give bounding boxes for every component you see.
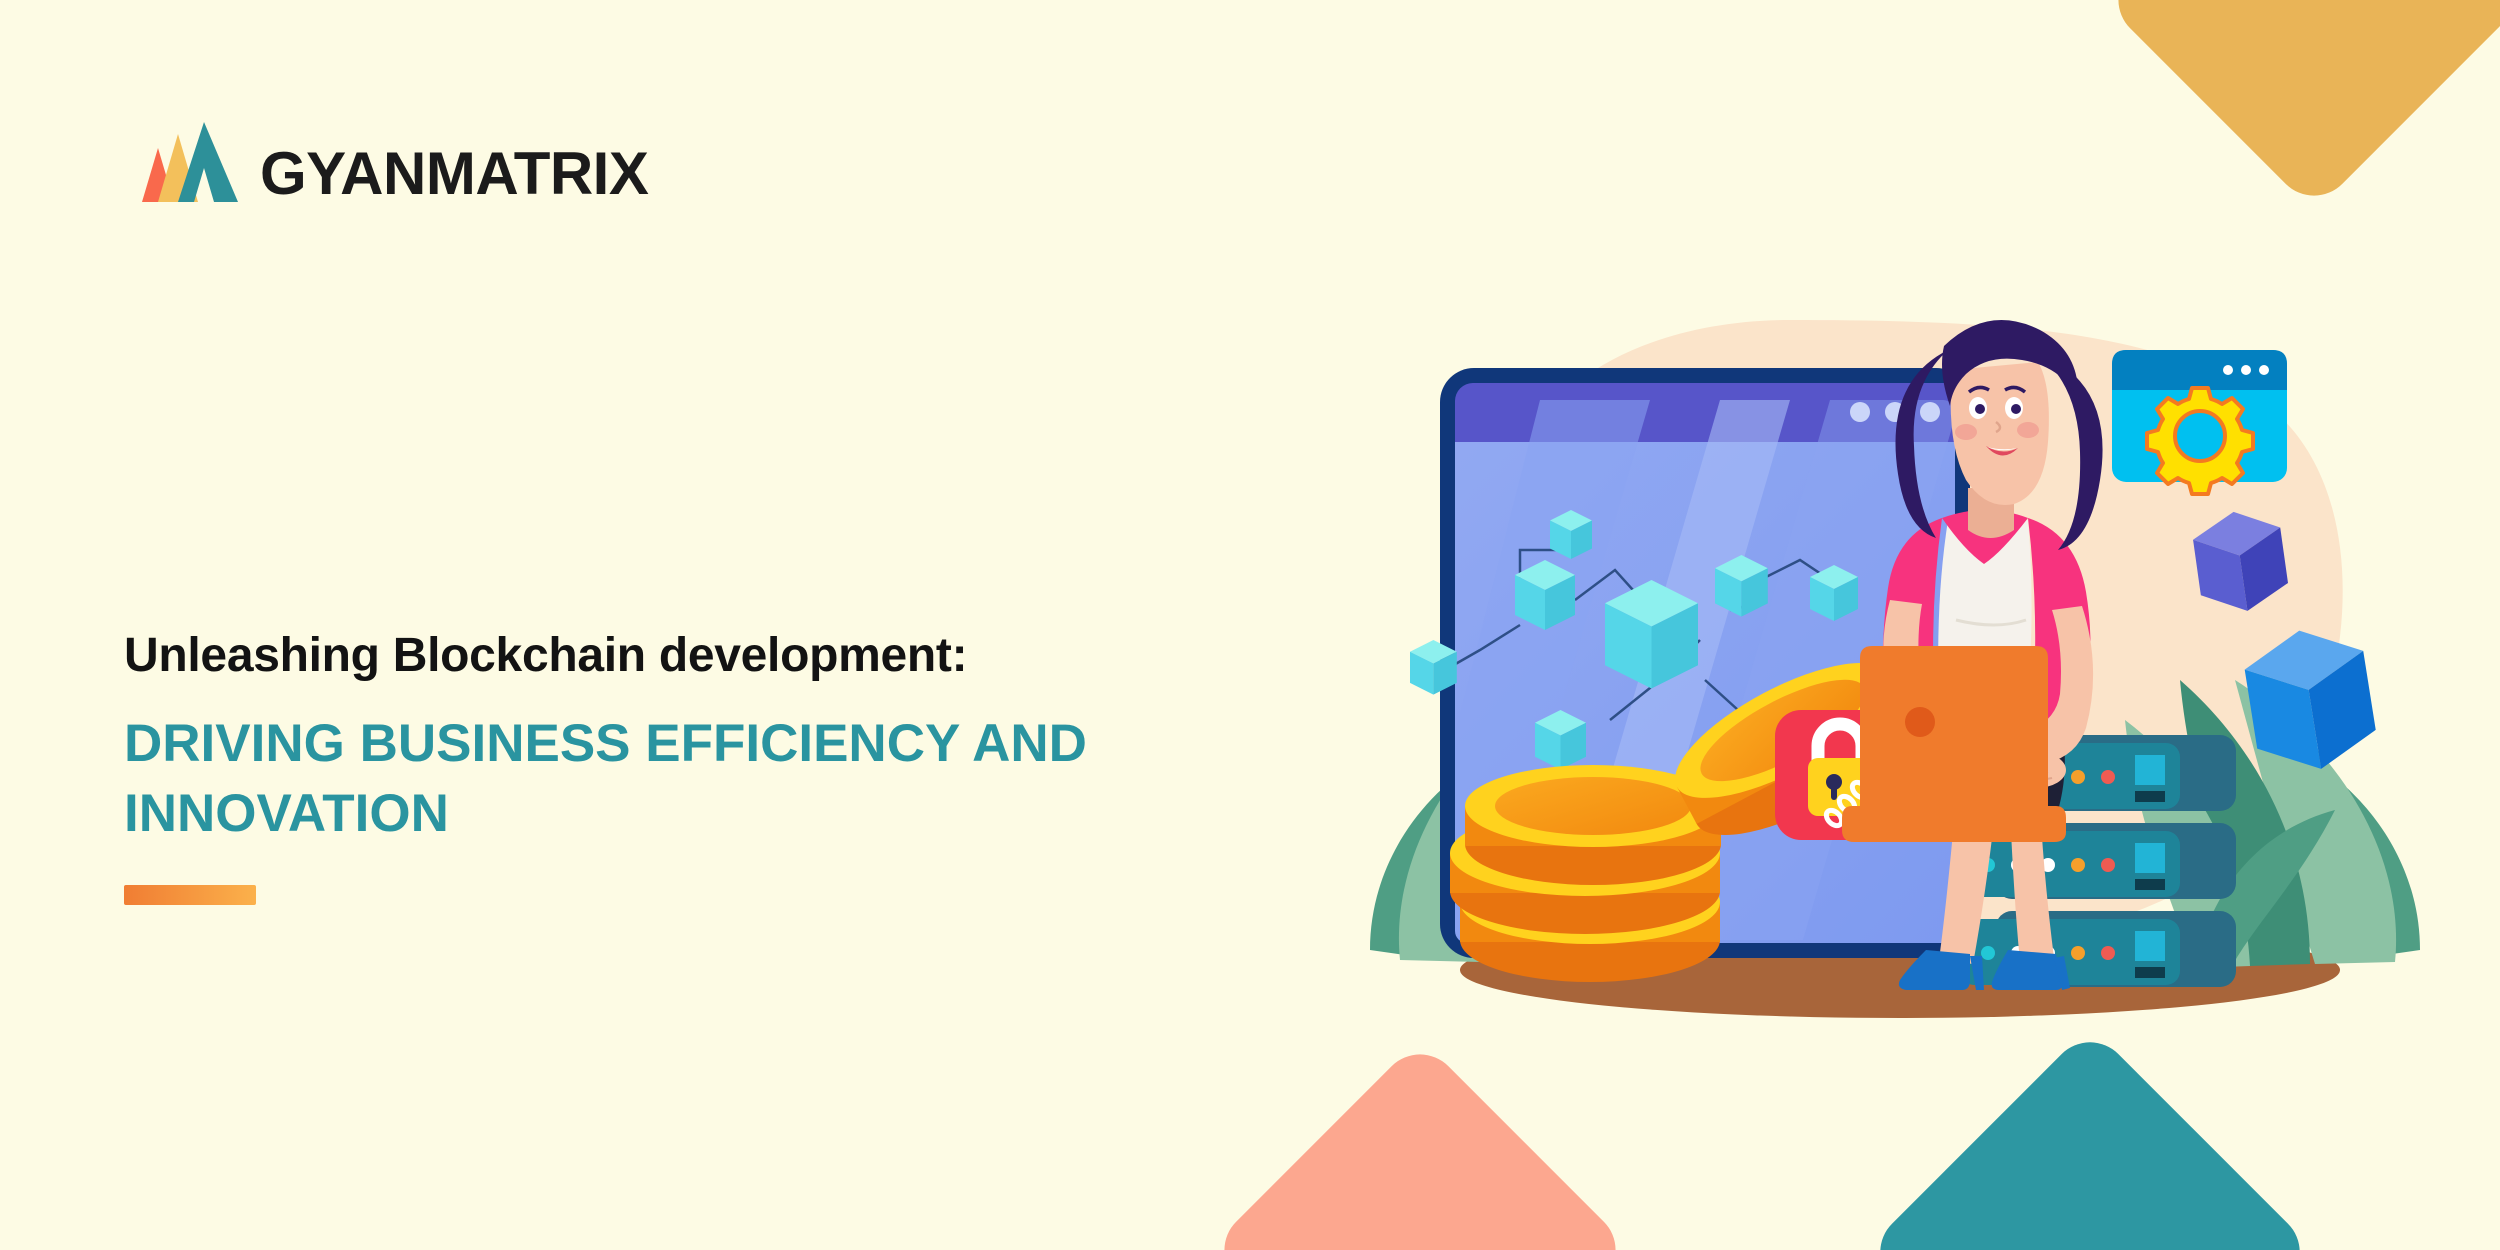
accent-bar <box>124 885 256 905</box>
headline-subtitle: Unleashing Blockchain development: <box>124 630 1374 683</box>
headline-block: Unleashing Blockchain development: DRIVI… <box>124 630 1374 905</box>
headline-title: DRIVING BUSINESS EFFICIENCY AND INNOVATI… <box>124 709 1304 849</box>
gear-icon <box>2147 388 2253 494</box>
settings-window-dots <box>2223 365 2269 375</box>
banner-root: GYANMATRIX Unleashing Blockchain develop… <box>0 0 2500 1250</box>
laptop-logo-icon <box>1905 707 1935 737</box>
gold-diamond-top-right-shape <box>2102 0 2500 212</box>
laptop[interactable] <box>1842 646 2066 842</box>
salmon-diamond-bottom-shape <box>1208 1038 1632 1250</box>
eye-right <box>2011 404 2021 414</box>
laptop-lid <box>1860 646 2048 806</box>
hero-illustration <box>1360 250 2440 1050</box>
teal-diamond-bottom-right-shape <box>1864 1026 2317 1250</box>
mountain-logo-icon <box>122 118 254 202</box>
illustration-svg <box>1360 250 2440 1050</box>
brand-wordmark: GYANMATRIX <box>260 145 648 202</box>
brand-logo[interactable]: GYANMATRIX <box>122 118 648 202</box>
eye-left <box>1975 404 1985 414</box>
settings-window-badge[interactable] <box>2112 350 2287 494</box>
laptop-base <box>1842 806 2066 842</box>
